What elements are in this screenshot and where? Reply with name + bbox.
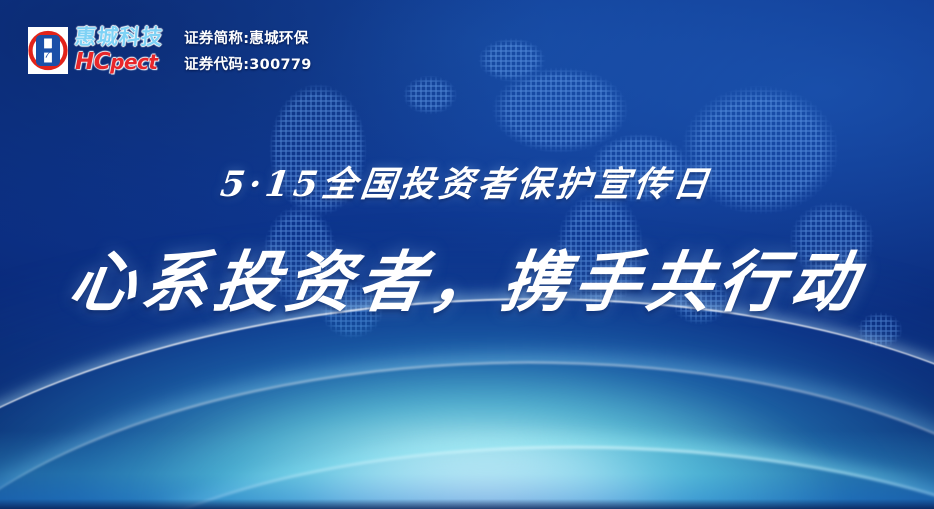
main-title-row: 心系投资者，携手共行动 <box>0 229 934 325</box>
hc-monogram-icon <box>28 27 68 74</box>
light-arc-middle <box>0 345 934 509</box>
campaign-headline: 5·15全国投资者保护宣传日 <box>218 156 716 207</box>
stock-abbreviation: 证券简称:惠城环保 <box>184 27 312 48</box>
brand-lockup: 惠城科技 HCpect 证券简称:惠城环保 证券代码:300779 <box>28 27 312 74</box>
investor-protection-poster: 惠城科技 HCpect 证券简称:惠城环保 证券代码:300779 5·15全国… <box>0 0 934 509</box>
campaign-slogan: 心系投资者，携手共行动 <box>64 229 869 325</box>
brand-english-head: HC <box>75 49 110 75</box>
bottom-edge-shade <box>0 499 934 509</box>
bottom-light-streak <box>0 431 934 509</box>
stock-code: 证券代码:300779 <box>184 53 312 74</box>
brand-chinese-name: 惠城科技 <box>74 27 164 48</box>
light-arc-lower <box>36 434 934 509</box>
brand-english-name: HCpect <box>75 51 163 74</box>
brand-wordmark: 惠城科技 HCpect <box>75 27 163 74</box>
stock-info-block: 证券简称:惠城环保 证券代码:300779 <box>184 27 312 74</box>
headline-row: 5·15全国投资者保护宣传日 <box>0 156 934 207</box>
horizon-glow-core <box>137 339 837 509</box>
brand-english-tail: pect <box>110 50 157 74</box>
